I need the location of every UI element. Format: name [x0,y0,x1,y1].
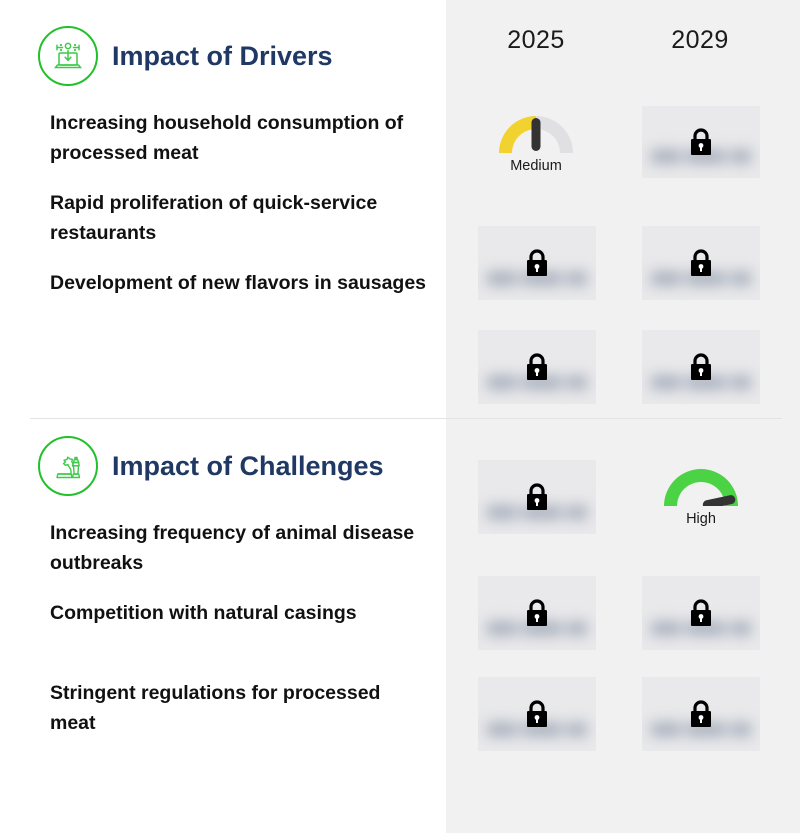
locked-cell-challenges-3-2025[interactable] [478,677,596,751]
section-title-challenges: Impact of Challenges [112,451,384,482]
locked-cell-drivers-3-2025[interactable] [478,330,596,404]
lock-icon [478,576,596,650]
column-header-2029: 2029 [630,26,770,55]
lock-icon [642,226,760,300]
gauge-dial [660,465,742,506]
row-label-drivers-2: Rapid proliferation of quick-service res… [50,188,430,248]
row-label-drivers-3: Development of new flavors in sausages [50,268,430,298]
gauge-value-label: High [642,511,760,527]
section-title-drivers: Impact of Drivers [112,41,333,72]
lock-icon [478,677,596,751]
section-heading-challenges: Impact of Challenges [38,436,384,496]
locked-cell-drivers-2-2025[interactable] [478,226,596,300]
locked-cell-challenges-2-2025[interactable] [478,576,596,650]
lock-icon [478,226,596,300]
impact-matrix-page: 2025 2029 Impact of [0,0,800,833]
locked-cell-challenges-3-2029[interactable] [642,677,760,751]
locked-cell-challenges-1-2025[interactable] [478,460,596,534]
chess-pieces-icon [38,436,98,496]
gauge-drivers-1-2025: Medium [477,112,595,174]
gauge-value-label: Medium [477,158,595,174]
lock-icon [642,677,760,751]
lock-icon [642,330,760,404]
gauge-dial [495,112,577,153]
lock-icon [478,460,596,534]
locked-cell-drivers-1-2029[interactable] [642,106,760,178]
gauge-challenges-1-2029: High [642,465,760,527]
row-label-challenges-3: Stringent regulations for processed meat [50,678,430,738]
locked-cell-drivers-2-2029[interactable] [642,226,760,300]
lock-icon [642,576,760,650]
lock-icon [478,330,596,404]
section-divider [30,418,782,419]
row-label-drivers-1: Increasing household consumption of proc… [50,108,430,168]
row-label-challenges-1: Increasing frequency of animal disease o… [50,518,430,578]
row-label-challenges-2: Competition with natural casings [50,598,430,628]
locked-cell-drivers-3-2029[interactable] [642,330,760,404]
section-heading-drivers: Impact of Drivers [38,26,333,86]
lock-icon [642,106,760,178]
column-header-2025: 2025 [466,26,606,55]
laptop-download-network-icon [38,26,98,86]
locked-cell-challenges-2-2029[interactable] [642,576,760,650]
